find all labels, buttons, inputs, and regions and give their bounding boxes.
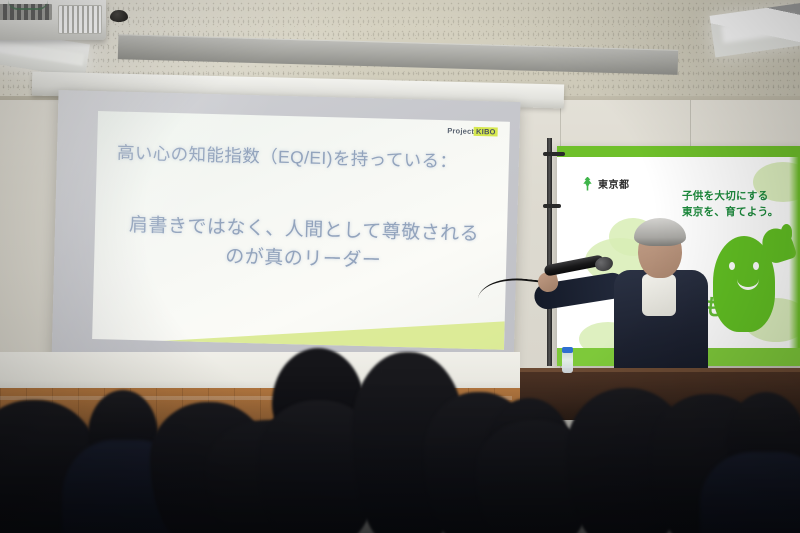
slide-accent-wedge	[92, 303, 505, 350]
projector-cable	[8, 0, 48, 10]
presentation-slide: ProjectKIBO 高い心の知能指数（EQ/EI)を持っている： 肩書きでは…	[92, 111, 510, 350]
project-kibo-logo: ProjectKIBO	[447, 126, 498, 136]
presenter-shirt	[642, 274, 676, 316]
mascot-eye	[729, 262, 735, 270]
projection-screen: ProjectKIBO 高い心の知能指数（EQ/EI)を持っている： 肩書きでは…	[52, 90, 521, 372]
mascot-mouth	[737, 276, 759, 290]
presenter-hair	[634, 218, 686, 246]
banner-stand-arm	[543, 152, 565, 156]
banner-copy-line-1: 子供を大切にする	[682, 188, 800, 204]
dome-sensor-icon	[110, 10, 128, 22]
bottle-cap	[562, 347, 573, 353]
logo-prefix: Project	[447, 126, 474, 136]
banner-edge	[789, 146, 800, 366]
slide-body: 肩書きではなく、人間として尊敬される のが真のリーダー	[108, 211, 499, 278]
mascot-eye	[753, 262, 759, 270]
banner-stand-arm	[543, 204, 561, 208]
ginkgo-icon	[581, 177, 594, 191]
banner-copy: 子供を大切にする 東京を、育てよう。	[682, 188, 800, 221]
tokyo-label: 東京都	[598, 176, 630, 191]
water-bottle	[562, 351, 573, 373]
logo-highlight: KIBO	[474, 127, 498, 137]
slide-heading: 高い心の知能指数（EQ/EI)を持っている：	[117, 140, 498, 175]
projector-vent	[58, 5, 102, 34]
banner-stand-pole	[547, 138, 552, 366]
tokyo-metropolitan-logo: 東京都	[581, 176, 630, 191]
presenter	[596, 218, 726, 378]
lecture-hall-photo: ProjectKIBO 高い心の知能指数（EQ/EI)を持っている： 肩書きでは…	[0, 0, 800, 533]
